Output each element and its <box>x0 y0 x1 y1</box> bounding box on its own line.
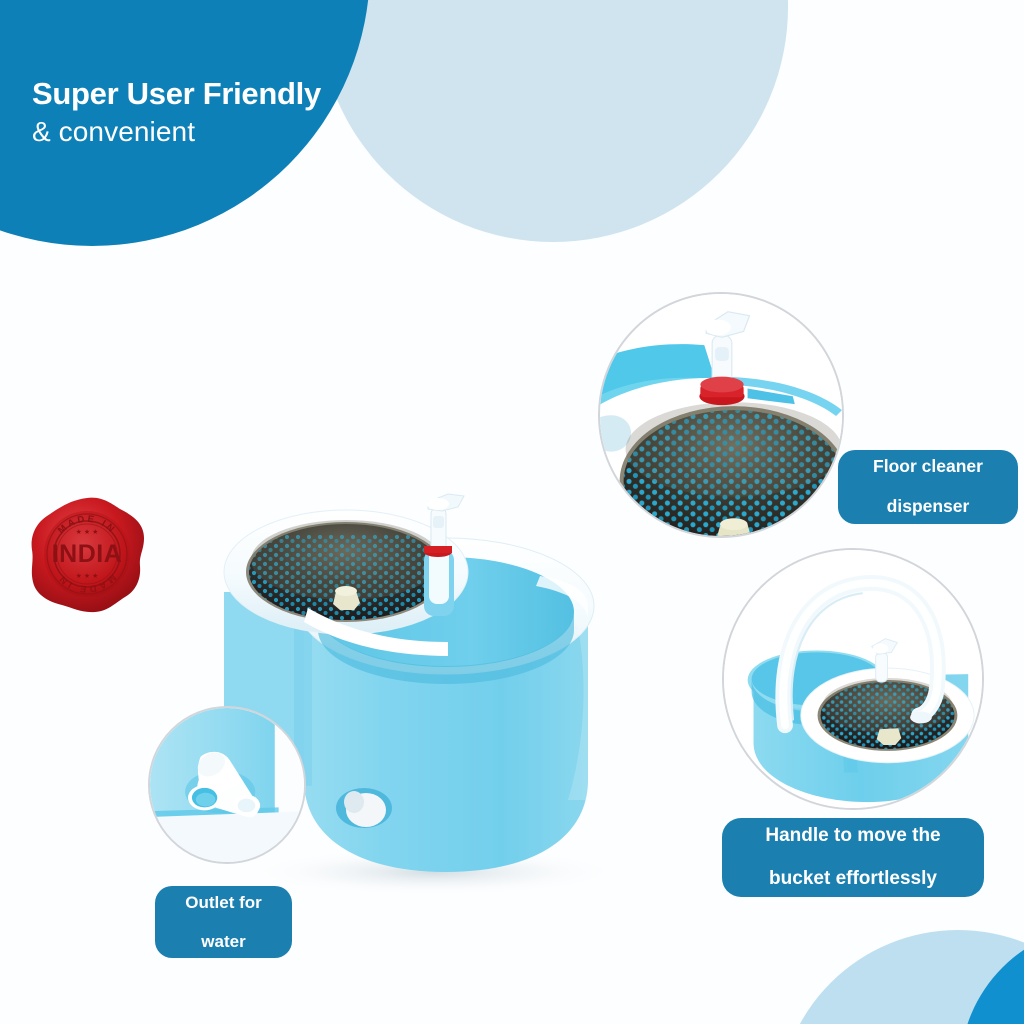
callout-image-dispenser <box>598 292 844 538</box>
callout-image-handle <box>722 548 984 810</box>
callout-label-outlet-line1: Outlet for <box>169 893 278 912</box>
callout-label-dispenser-line1: Floor cleaner <box>852 457 1004 477</box>
callout-label-outlet[interactable]: Outlet for water <box>155 886 292 958</box>
callout-label-handle-line1: Handle to move the <box>736 825 970 847</box>
headline-primary: Super User Friendly <box>32 78 321 109</box>
callout-label-dispenser[interactable]: Floor cleaner dispenser <box>838 450 1018 524</box>
callout-label-dispenser-line2: dispenser <box>852 497 1004 517</box>
headline-secondary: & convenient <box>32 118 321 146</box>
callout-label-handle-line2: bucket effortlessly <box>736 868 970 890</box>
headline-block: Super User Friendly & convenient <box>32 78 321 146</box>
seal-stars-bottom: ★ ★ ★ <box>76 572 99 580</box>
seal-stars-top: ★ ★ ★ <box>76 528 99 536</box>
callout-image-outlet <box>148 706 306 864</box>
seal-country-text: INDIA <box>52 540 123 568</box>
callout-label-outlet-line2: water <box>169 932 278 951</box>
product-feature-banner: Super User Friendly & convenient <box>0 0 1024 1024</box>
made-in-india-seal-icon: MADE IN MADE IN INDIA ★ ★ ★ ★ ★ ★ <box>24 492 150 618</box>
decor-circle-light-top <box>318 0 788 242</box>
callout-label-handle[interactable]: Handle to move the bucket effortlessly <box>722 818 984 897</box>
